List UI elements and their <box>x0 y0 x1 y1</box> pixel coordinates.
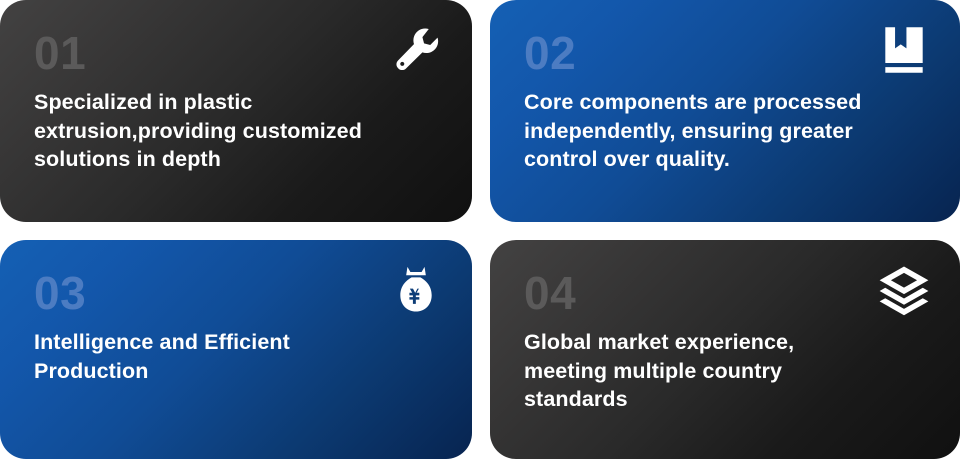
feature-card-02[interactable]: 02 Core components are processed indepen… <box>490 0 960 222</box>
card-headline: Intelligence and Efficient Production <box>34 328 442 385</box>
card-number: 01 <box>34 30 442 76</box>
card-content: 02 Core components are processed indepen… <box>490 0 960 222</box>
feature-card-01[interactable]: 01 Specialized in plastic extrusion,prov… <box>0 0 472 222</box>
feature-card-grid: 01 Specialized in plastic extrusion,prov… <box>0 0 960 459</box>
card-content: 04 Global market experience, meeting mul… <box>490 240 960 459</box>
card-number: 04 <box>524 270 930 316</box>
card-content: 01 Specialized in plastic extrusion,prov… <box>0 0 472 222</box>
feature-card-03[interactable]: 03 Intelligence and Efficient Production <box>0 240 472 459</box>
card-headline: Specialized in plastic extrusion,providi… <box>34 88 442 174</box>
card-headline: Global market experience, meeting multip… <box>524 328 924 414</box>
feature-card-04[interactable]: 04 Global market experience, meeting mul… <box>490 240 960 459</box>
card-headline: Core components are processed independen… <box>524 88 930 174</box>
card-number: 03 <box>34 270 442 316</box>
card-content: 03 Intelligence and Efficient Production <box>0 240 472 459</box>
card-number: 02 <box>524 30 930 76</box>
